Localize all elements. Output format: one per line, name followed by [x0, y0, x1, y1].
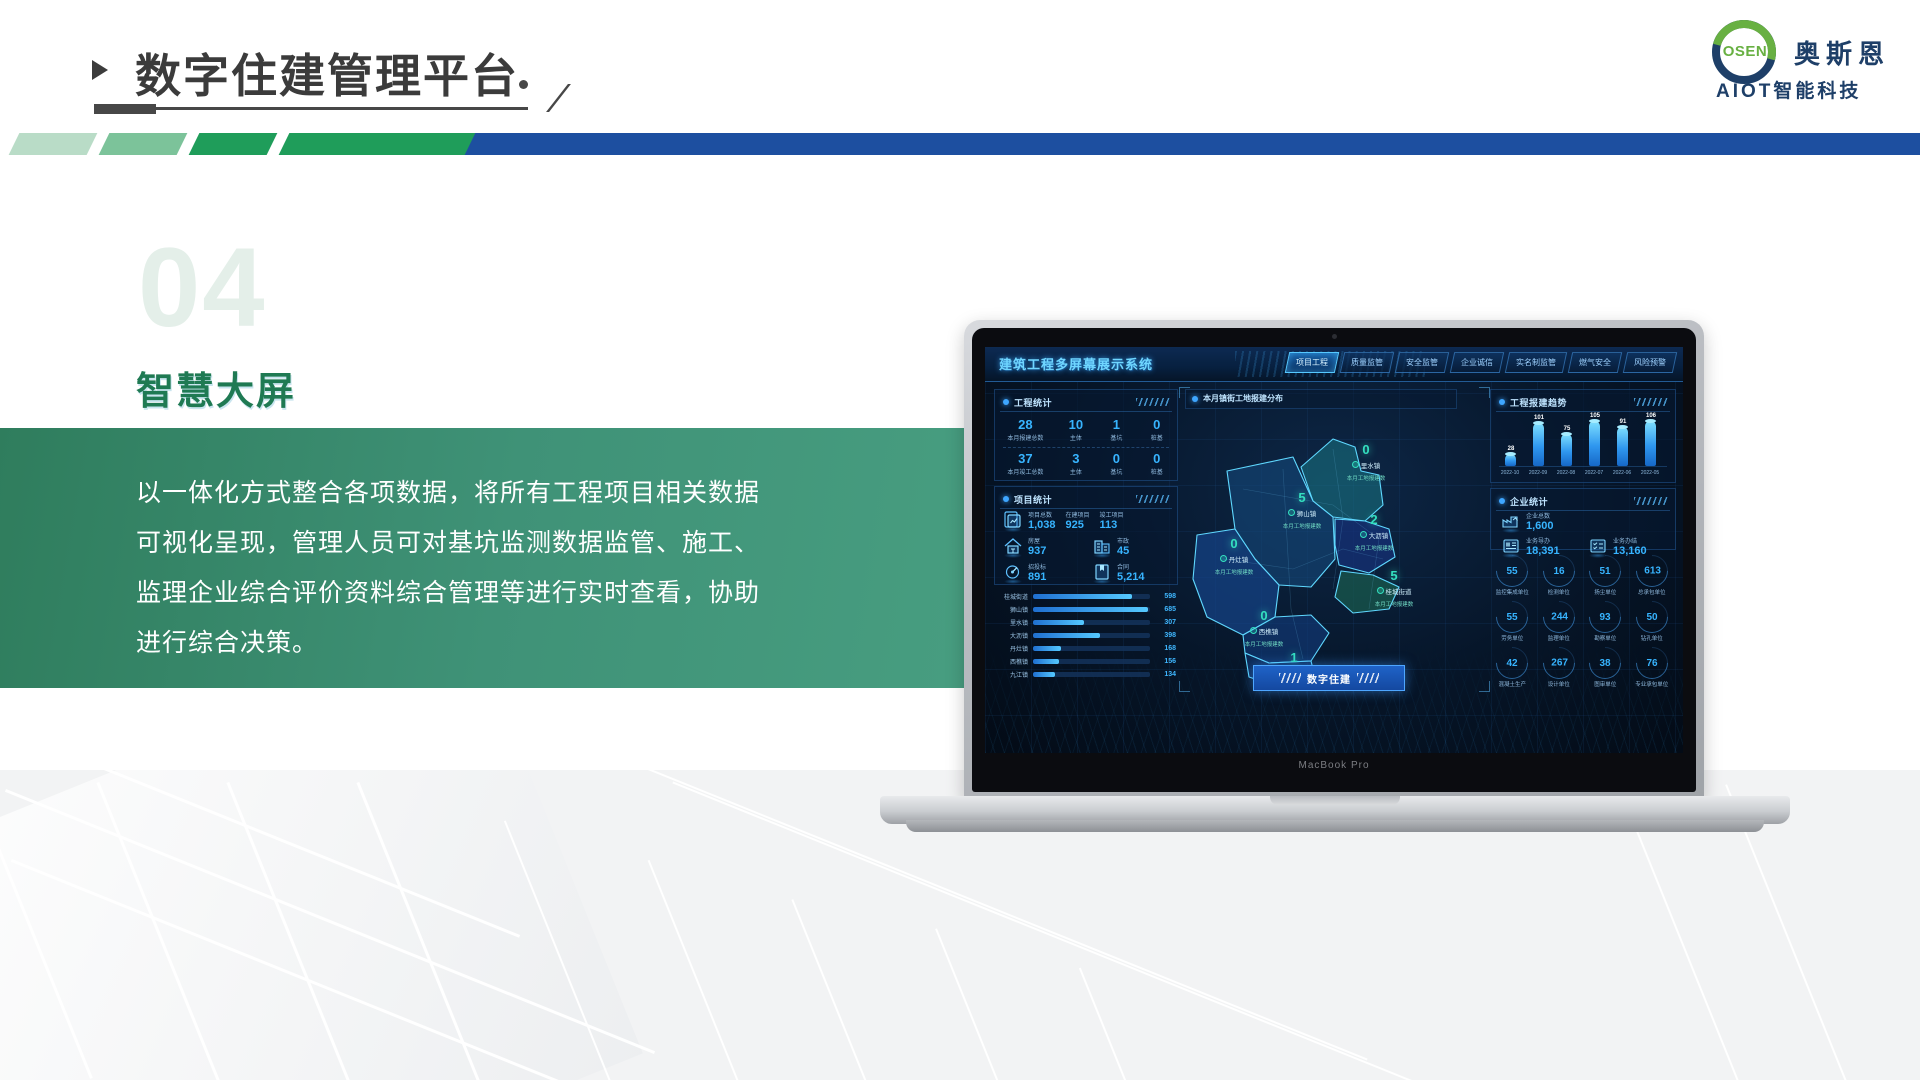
- badge-label: 扬尘单位: [1583, 588, 1628, 596]
- stat-value: 10: [1056, 418, 1096, 432]
- stat-caption: 桩基: [1137, 433, 1177, 442]
- marker-name: 西樵镇: [1259, 626, 1279, 636]
- badge-总承包单位[interactable]: 613总承包单位: [1630, 555, 1675, 598]
- map-marker-shishan[interactable]: 5 狮山镇 本月工地报建数: [1267, 491, 1337, 530]
- stat-value: 0: [1137, 418, 1177, 432]
- stat-row: 28 本月报建总数 10 主体 1 基坑 0 桩基: [995, 418, 1177, 442]
- badge-专业承包单位[interactable]: 76专业承包单位: [1630, 647, 1675, 690]
- chart-x-tick: 2022-07: [1581, 470, 1607, 476]
- logo-brand-cn: 奥斯恩: [1794, 34, 1890, 71]
- kv-竣工项目: 竣工项目 113: [1100, 510, 1124, 532]
- badge-label: 图审单位: [1583, 680, 1628, 688]
- dashboard-system-title: 建筑工程多屏幕展示系统: [999, 354, 1153, 373]
- stat-caption: 本月报建总数: [995, 433, 1056, 442]
- badge-label: 劳务单位: [1490, 634, 1535, 642]
- page-header: 数字住建管理平台: [0, 0, 1920, 150]
- document-chart-icon: [1001, 510, 1025, 532]
- badge-label: 检测单位: [1537, 588, 1582, 596]
- stat-cell: 0 桩基: [1137, 418, 1177, 442]
- badge-ring-icon: 244: [1536, 594, 1581, 639]
- stat-cell: 28 本月报建总数: [995, 418, 1056, 442]
- button-label: 数字住建: [1307, 671, 1351, 686]
- district-label: 西樵镇: [994, 657, 1028, 666]
- kv-在建项目: 在建项目 925: [1066, 510, 1090, 532]
- webcam-icon: [1332, 334, 1337, 339]
- kv-key: 业务导办: [1526, 536, 1576, 545]
- stat-row: 37 本月竣工总数 3 主体 0 基坑 0 桩基: [995, 452, 1177, 476]
- badge-value: 38: [1600, 658, 1611, 669]
- badge-label: 混凝土生产: [1490, 680, 1535, 688]
- stat-cell: 0 基坑: [1096, 452, 1136, 476]
- marker-value: 5: [1359, 569, 1429, 582]
- kv-招投标: 招投标 891: [1028, 562, 1080, 584]
- kv-市政: 市政 45: [1117, 536, 1129, 558]
- badge-value: 613: [1643, 566, 1660, 577]
- description-text: 以一体化方式整合各项数据，将所有工程项目相关数据 可视化呈现，管理人员可对基坑监…: [136, 468, 836, 668]
- stat-value: 37: [995, 452, 1056, 466]
- marker-name: 桂城街道: [1386, 586, 1412, 596]
- district-label: 九江镇: [994, 670, 1028, 679]
- chart-x-tick: 2022-10: [1497, 470, 1523, 476]
- tab-质量监管[interactable]: 质量监管: [1340, 352, 1394, 373]
- badge-label: 钻孔单位: [1630, 634, 1675, 642]
- stat-value: 28: [995, 418, 1056, 432]
- panel-header: 工程统计: [1000, 394, 1172, 412]
- tab-label: 燃气安全: [1579, 357, 1611, 368]
- panel-approval-trend-chart: 工程报建趋势 28 2022-10 101 2022-09 75 2022-08…: [1490, 389, 1676, 483]
- marker-caption: 本月工地报建数: [1229, 640, 1299, 648]
- panel-header: 企业统计: [1496, 493, 1670, 511]
- chart-bar-value: 106: [1640, 413, 1662, 419]
- tab-风险预警[interactable]: 风险预警: [1623, 352, 1677, 373]
- panel-decor-hatch-icon: [1634, 398, 1668, 406]
- badge-label: 专业承包单位: [1630, 680, 1675, 688]
- bullet-icon: [1192, 396, 1198, 402]
- stat-value: 0: [1096, 452, 1136, 466]
- badge-ring-icon: 38: [1583, 640, 1628, 685]
- description-line: 可视化呈现，管理人员可对基坑监测数据监管、施工、: [136, 518, 836, 568]
- badge-label: 总承包单位: [1630, 588, 1675, 596]
- district-label: 丹灶镇: [994, 644, 1028, 653]
- district-bar-track: [1033, 659, 1150, 664]
- badge-设计单位[interactable]: 267设计单位: [1537, 647, 1582, 690]
- kv-key: 企业总数: [1526, 511, 1554, 520]
- district-bar-row: 九江镇 134: [994, 668, 1176, 681]
- stat-value: 0: [1137, 452, 1177, 466]
- laptop-mockup: MacBook Pro 建筑工程多屏幕展示系统 项目工程 质量监管 安全监管 企…: [880, 320, 1790, 880]
- corner-decor-icon: [1479, 681, 1490, 692]
- district-value: 168: [1150, 645, 1176, 652]
- kv-key: 业务办结: [1613, 536, 1647, 545]
- badge-ring-icon: 55: [1490, 548, 1535, 593]
- badge-ring-icon: 16: [1536, 548, 1581, 593]
- title-underline-dot: [519, 80, 528, 89]
- description-line: 以一体化方式整合各项数据，将所有工程项目相关数据: [136, 468, 836, 518]
- map-marker-dali[interactable]: 2 大沥镇 本月工地报建数: [1339, 513, 1409, 552]
- bullet-icon: [1003, 496, 1009, 502]
- district-bar-list: 桂城街道 598 狮山镇 685 里水镇 307 大沥镇 398: [994, 590, 1176, 690]
- district-value: 307: [1150, 619, 1176, 626]
- tab-企业诚信[interactable]: 企业诚信: [1450, 352, 1504, 373]
- kv-value: 1,038: [1028, 519, 1056, 532]
- panel-title: 企业统计: [1510, 495, 1548, 508]
- district-bar-row: 狮山镇 685: [994, 603, 1176, 616]
- marker-name: 丹灶镇: [1229, 554, 1249, 564]
- chart-bar: [1533, 423, 1544, 466]
- badge-value: 267: [1550, 658, 1567, 669]
- marker-caption: 本月工地报建数: [1339, 544, 1409, 552]
- marker-caption: 本月工地报建数: [1331, 474, 1401, 482]
- tab-燃气安全[interactable]: 燃气安全: [1568, 352, 1622, 373]
- panel-engineering-stats: 工程统计 28 本月报建总数 10 主体 1 基坑: [994, 389, 1178, 481]
- chart-bar: [1561, 434, 1572, 466]
- badge-value: 51: [1600, 566, 1611, 577]
- badge-检测单位[interactable]: 16检测单位: [1537, 555, 1582, 598]
- kv-value: 925: [1066, 519, 1090, 532]
- district-label: 狮山镇: [994, 605, 1028, 614]
- district-map[interactable]: 0 里水镇 本月工地报建数 5 狮山镇 本月工地报建数 2 大沥镇 本月工地报建…: [1183, 409, 1483, 689]
- stat-caption: 基坑: [1096, 433, 1136, 442]
- marker-value: 1: [1259, 651, 1329, 664]
- badge-混凝土生产[interactable]: 42混凝土生产: [1490, 647, 1535, 690]
- kv-value: 891: [1028, 571, 1080, 584]
- marker-caption: 本月工地报建数: [1199, 568, 1269, 576]
- district-label: 大沥镇: [994, 631, 1028, 640]
- district-value: 398: [1150, 632, 1176, 639]
- panel-header: 项目统计: [1000, 491, 1172, 509]
- chart-bar: [1617, 427, 1628, 466]
- district-bar-track: [1033, 594, 1150, 599]
- badge-value: 16: [1553, 566, 1564, 577]
- marker-value: 5: [1267, 491, 1337, 504]
- kv-key: 合同: [1117, 562, 1145, 571]
- badge-ring-icon: 51: [1583, 548, 1628, 593]
- dashboard-nav-tabs[interactable]: 项目工程 质量监管 安全监管 企业诚信 实名制监管 燃气安全 风险预警: [1287, 352, 1675, 373]
- dashboard: 建筑工程多屏幕展示系统 项目工程 质量监管 安全监管 企业诚信 实名制监管 燃气…: [985, 347, 1683, 753]
- tab-label: 安全监管: [1406, 357, 1438, 368]
- chart-bar: [1589, 421, 1600, 466]
- district-bar-row: 大沥镇 398: [994, 629, 1176, 642]
- laptop-base-notch: [1270, 796, 1400, 805]
- map-pin-icon: [1377, 587, 1384, 594]
- kv-value: 1,600: [1526, 520, 1554, 533]
- factory-icon: [1499, 511, 1523, 533]
- district-value: 134: [1150, 671, 1176, 678]
- district-bar-track: [1033, 620, 1150, 625]
- badge-ring-icon: 267: [1536, 640, 1581, 685]
- kv-key: 招投标: [1028, 562, 1080, 571]
- stat-caption: 基坑: [1096, 467, 1136, 476]
- bar-chart: 28 2022-10 101 2022-09 75 2022-08 105 20…: [1499, 414, 1667, 476]
- digital-housing-button[interactable]: 数字住建: [1253, 665, 1405, 691]
- marker-caption: 本月工地报建数: [1359, 600, 1429, 608]
- kv-key: 市政: [1117, 536, 1129, 545]
- tab-label: 质量监管: [1351, 357, 1383, 368]
- panel-title: 工程报建趋势: [1510, 396, 1567, 409]
- slash-decor-icon: [1279, 673, 1301, 683]
- panel-divider: [1003, 447, 1169, 448]
- company-logo: OSEN 奥斯恩 AIOT智能科技: [1712, 14, 1908, 104]
- title-underline-rule: [156, 107, 528, 110]
- section-number: 04: [138, 232, 267, 344]
- district-value: 685: [1150, 606, 1176, 613]
- enterprise-badge-grid: 55监控集成单位 16检测单位 51扬尘单位 613总承包单位 55劳务单位 2…: [1490, 555, 1674, 690]
- chart-bar-value: 91: [1612, 419, 1634, 425]
- kv-key: 竣工项目: [1100, 510, 1124, 519]
- chart-x-tick: 2022-08: [1553, 470, 1579, 476]
- panel-project-stats: 项目统计 项目总数 1,038 在建项目 925: [994, 486, 1178, 585]
- marker-name: 里水镇: [1361, 460, 1381, 470]
- tab-项目工程[interactable]: 项目工程: [1285, 352, 1339, 373]
- house-icon: [1001, 536, 1025, 558]
- panel-decor-hatch-icon: [1634, 497, 1668, 505]
- map-pin-icon: [1360, 531, 1367, 538]
- marker-caption: 本月工地报建数: [1267, 522, 1337, 530]
- district-bar-track: [1033, 672, 1150, 677]
- badge-ring-icon: 50: [1629, 594, 1674, 639]
- badge-label: 监理单位: [1537, 634, 1582, 642]
- header-accent-bar: [0, 133, 1920, 155]
- section-title: 智慧大屏: [136, 360, 296, 415]
- title-underline-kink: [510, 84, 571, 112]
- chart-bar-value: 101: [1528, 415, 1550, 421]
- tab-安全监管[interactable]: 安全监管: [1395, 352, 1449, 373]
- marker-name: 大沥镇: [1369, 530, 1389, 540]
- laptop-model-label: MacBook Pro: [972, 760, 1696, 771]
- title-underline-block: [94, 104, 156, 114]
- badge-ring-icon: 613: [1629, 548, 1674, 593]
- corner-decor-icon: [1179, 681, 1190, 692]
- kv-value: 113: [1100, 519, 1124, 532]
- stat-cell: 10 主体: [1056, 418, 1096, 442]
- stat-value: 1: [1096, 418, 1136, 432]
- chart-x-tick: 2022-05: [1637, 470, 1663, 476]
- chart-axis-line: [1499, 466, 1667, 467]
- chart-bar-value: 28: [1500, 446, 1522, 452]
- bullet-icon: [1499, 498, 1505, 504]
- badge-劳务单位[interactable]: 55劳务单位: [1490, 601, 1535, 644]
- play-triangle-icon: [92, 60, 108, 80]
- badge-勘察单位[interactable]: 93勘察单位: [1583, 601, 1628, 644]
- stat-cell: 0 桩基: [1137, 452, 1177, 476]
- description-line: 监理企业综合评价资料综合管理等进行实时查看，协助: [136, 568, 836, 618]
- stat-cell: 3 主体: [1056, 452, 1096, 476]
- bid-icon: [1001, 562, 1025, 584]
- stat-caption: 本月竣工总数: [995, 467, 1056, 476]
- panel-title: 项目统计: [1014, 493, 1052, 506]
- kv-value: 45: [1117, 545, 1129, 558]
- badge-ring-icon: 76: [1629, 640, 1674, 685]
- project-stats-grid: 项目总数 1,038 在建项目 925 竣工项目 113: [1001, 510, 1171, 584]
- chart-x-tick: 2022-06: [1609, 470, 1635, 476]
- badge-扬尘单位[interactable]: 51扬尘单位: [1583, 555, 1628, 598]
- chart-bar: [1505, 454, 1516, 466]
- badge-ring-icon: 42: [1490, 640, 1535, 685]
- district-bar-track: [1033, 607, 1150, 612]
- panel-decor-hatch-icon: [1136, 398, 1170, 406]
- stat-cell: 1 基坑: [1096, 418, 1136, 442]
- page-title: 数字住建管理平台: [135, 40, 519, 106]
- kv-value: 937: [1028, 545, 1080, 558]
- badge-value: 93: [1600, 612, 1611, 623]
- marker-value: 0: [1331, 443, 1401, 456]
- logo-mark-text: OSEN: [1718, 43, 1772, 60]
- district-value: 156: [1150, 658, 1176, 665]
- badge-value: 55: [1507, 566, 1518, 577]
- marker-value: 0: [1229, 609, 1299, 622]
- badge-监控集成单位[interactable]: 55监控集成单位: [1490, 555, 1535, 598]
- map-pin-icon: [1352, 461, 1359, 468]
- badge-value: 244: [1550, 612, 1567, 623]
- badge-label: 勘察单位: [1583, 634, 1628, 642]
- slash-decor-icon: [1357, 673, 1379, 683]
- map-pin-icon: [1220, 555, 1227, 562]
- tab-实名制监管[interactable]: 实名制监管: [1505, 352, 1567, 373]
- badge-value: 55: [1507, 612, 1518, 623]
- chart-bar-value: 75: [1556, 426, 1578, 432]
- map-pin-icon: [1288, 509, 1295, 516]
- district-label: 里水镇: [994, 618, 1028, 627]
- project-stats-row: 项目总数 1,038 在建项目 925 竣工项目 113: [1001, 510, 1171, 532]
- map-marker-danzao[interactable]: 0 丹灶镇 本月工地报建数: [1199, 537, 1269, 576]
- corner-decor-icon: [1179, 387, 1190, 398]
- panel-enterprise-stats: 企业统计 企业总数 1,600: [1490, 488, 1676, 550]
- tab-label: 风险预警: [1634, 357, 1666, 368]
- badge-label: 设计单位: [1537, 680, 1582, 688]
- panel-header: 工程报建趋势: [1496, 394, 1670, 412]
- district-bar-row: 西樵镇 156: [994, 655, 1176, 668]
- enterprise-stats-row: 企业总数 1,600: [1499, 511, 1667, 533]
- kv-企业总数: 企业总数 1,600: [1526, 511, 1554, 533]
- marker-value: 0: [1199, 537, 1269, 550]
- contract-icon: [1090, 562, 1114, 584]
- panel-decor-hatch-icon: [1136, 495, 1170, 503]
- stat-value: 3: [1056, 452, 1096, 466]
- map-marker-lishui[interactable]: 0 里水镇 本月工地报建数: [1331, 443, 1401, 482]
- tab-label: 企业诚信: [1461, 357, 1493, 368]
- badge-钻孔单位[interactable]: 50钻孔单位: [1630, 601, 1675, 644]
- badge-ring-icon: 55: [1490, 594, 1535, 639]
- map-title-box: 本月镇街工地报建分布: [1185, 389, 1457, 409]
- badge-监理单位[interactable]: 244监理单位: [1537, 601, 1582, 644]
- map-pin-icon: [1250, 627, 1257, 634]
- district-bar-row: 桂城街道 598: [994, 590, 1176, 603]
- map-marker-xiqiao[interactable]: 0 西樵镇 本月工地报建数: [1229, 609, 1299, 648]
- badge-value: 50: [1646, 612, 1657, 623]
- kv-value: 5,214: [1117, 571, 1145, 584]
- description-line: 进行综合决策。: [136, 618, 836, 668]
- badge-图审单位[interactable]: 38图审单位: [1583, 647, 1628, 690]
- kv-key: 房屋: [1028, 536, 1080, 545]
- chart-x-tick: 2022-09: [1525, 470, 1551, 476]
- district-label: 桂城街道: [994, 592, 1028, 601]
- tab-label: 项目工程: [1296, 357, 1328, 368]
- map-marker-guicheng[interactable]: 5 桂城街道 本月工地报建数: [1359, 569, 1429, 608]
- badge-value: 42: [1507, 658, 1518, 669]
- laptop-screen: 建筑工程多屏幕展示系统 项目工程 质量监管 安全监管 企业诚信 实名制监管 燃气…: [985, 347, 1683, 753]
- badge-value: 76: [1646, 658, 1657, 669]
- kv-key: 在建项目: [1066, 510, 1090, 519]
- district-bar-row: 丹灶镇 168: [994, 642, 1176, 655]
- bullet-icon: [1003, 399, 1009, 405]
- badge-ring-icon: 93: [1583, 594, 1628, 639]
- district-bar-row: 里水镇 307: [994, 616, 1176, 629]
- laptop-base-foot: [906, 820, 1764, 832]
- kv-合同: 合同 5,214: [1117, 562, 1145, 584]
- marker-value: 2: [1339, 513, 1409, 526]
- corner-decor-icon: [1479, 387, 1490, 398]
- logo-tagline: AIOT智能科技: [1716, 76, 1861, 103]
- project-stats-row: 房屋 937 市政 45: [1001, 536, 1171, 558]
- map-title: 本月镇街工地报建分布: [1203, 393, 1283, 404]
- chart-bar: [1645, 421, 1656, 466]
- district-value: 598: [1150, 593, 1176, 600]
- building-icon: [1090, 536, 1114, 558]
- kv-key: 项目总数: [1028, 510, 1056, 519]
- bullet-icon: [1499, 399, 1505, 405]
- kv-项目总数: 项目总数 1,038: [1028, 510, 1056, 532]
- stat-cell: 37 本月竣工总数: [995, 452, 1056, 476]
- kv-房屋: 房屋 937: [1028, 536, 1080, 558]
- district-bar-track: [1033, 633, 1150, 638]
- project-stats-row: 招投标 891 合同 5,214: [1001, 562, 1171, 584]
- stat-caption: 主体: [1056, 433, 1096, 442]
- district-bar-track: [1033, 646, 1150, 651]
- stat-caption: 主体: [1056, 467, 1096, 476]
- badge-label: 监控集成单位: [1490, 588, 1535, 596]
- tab-label: 实名制监管: [1516, 357, 1556, 368]
- chart-bar-value: 105: [1584, 413, 1606, 419]
- stat-caption: 桩基: [1137, 467, 1177, 476]
- enterprise-stats-grid: 企业总数 1,600 业务导办 18,391: [1499, 511, 1667, 558]
- panel-title: 工程统计: [1014, 396, 1052, 409]
- marker-name: 狮山镇: [1297, 508, 1317, 518]
